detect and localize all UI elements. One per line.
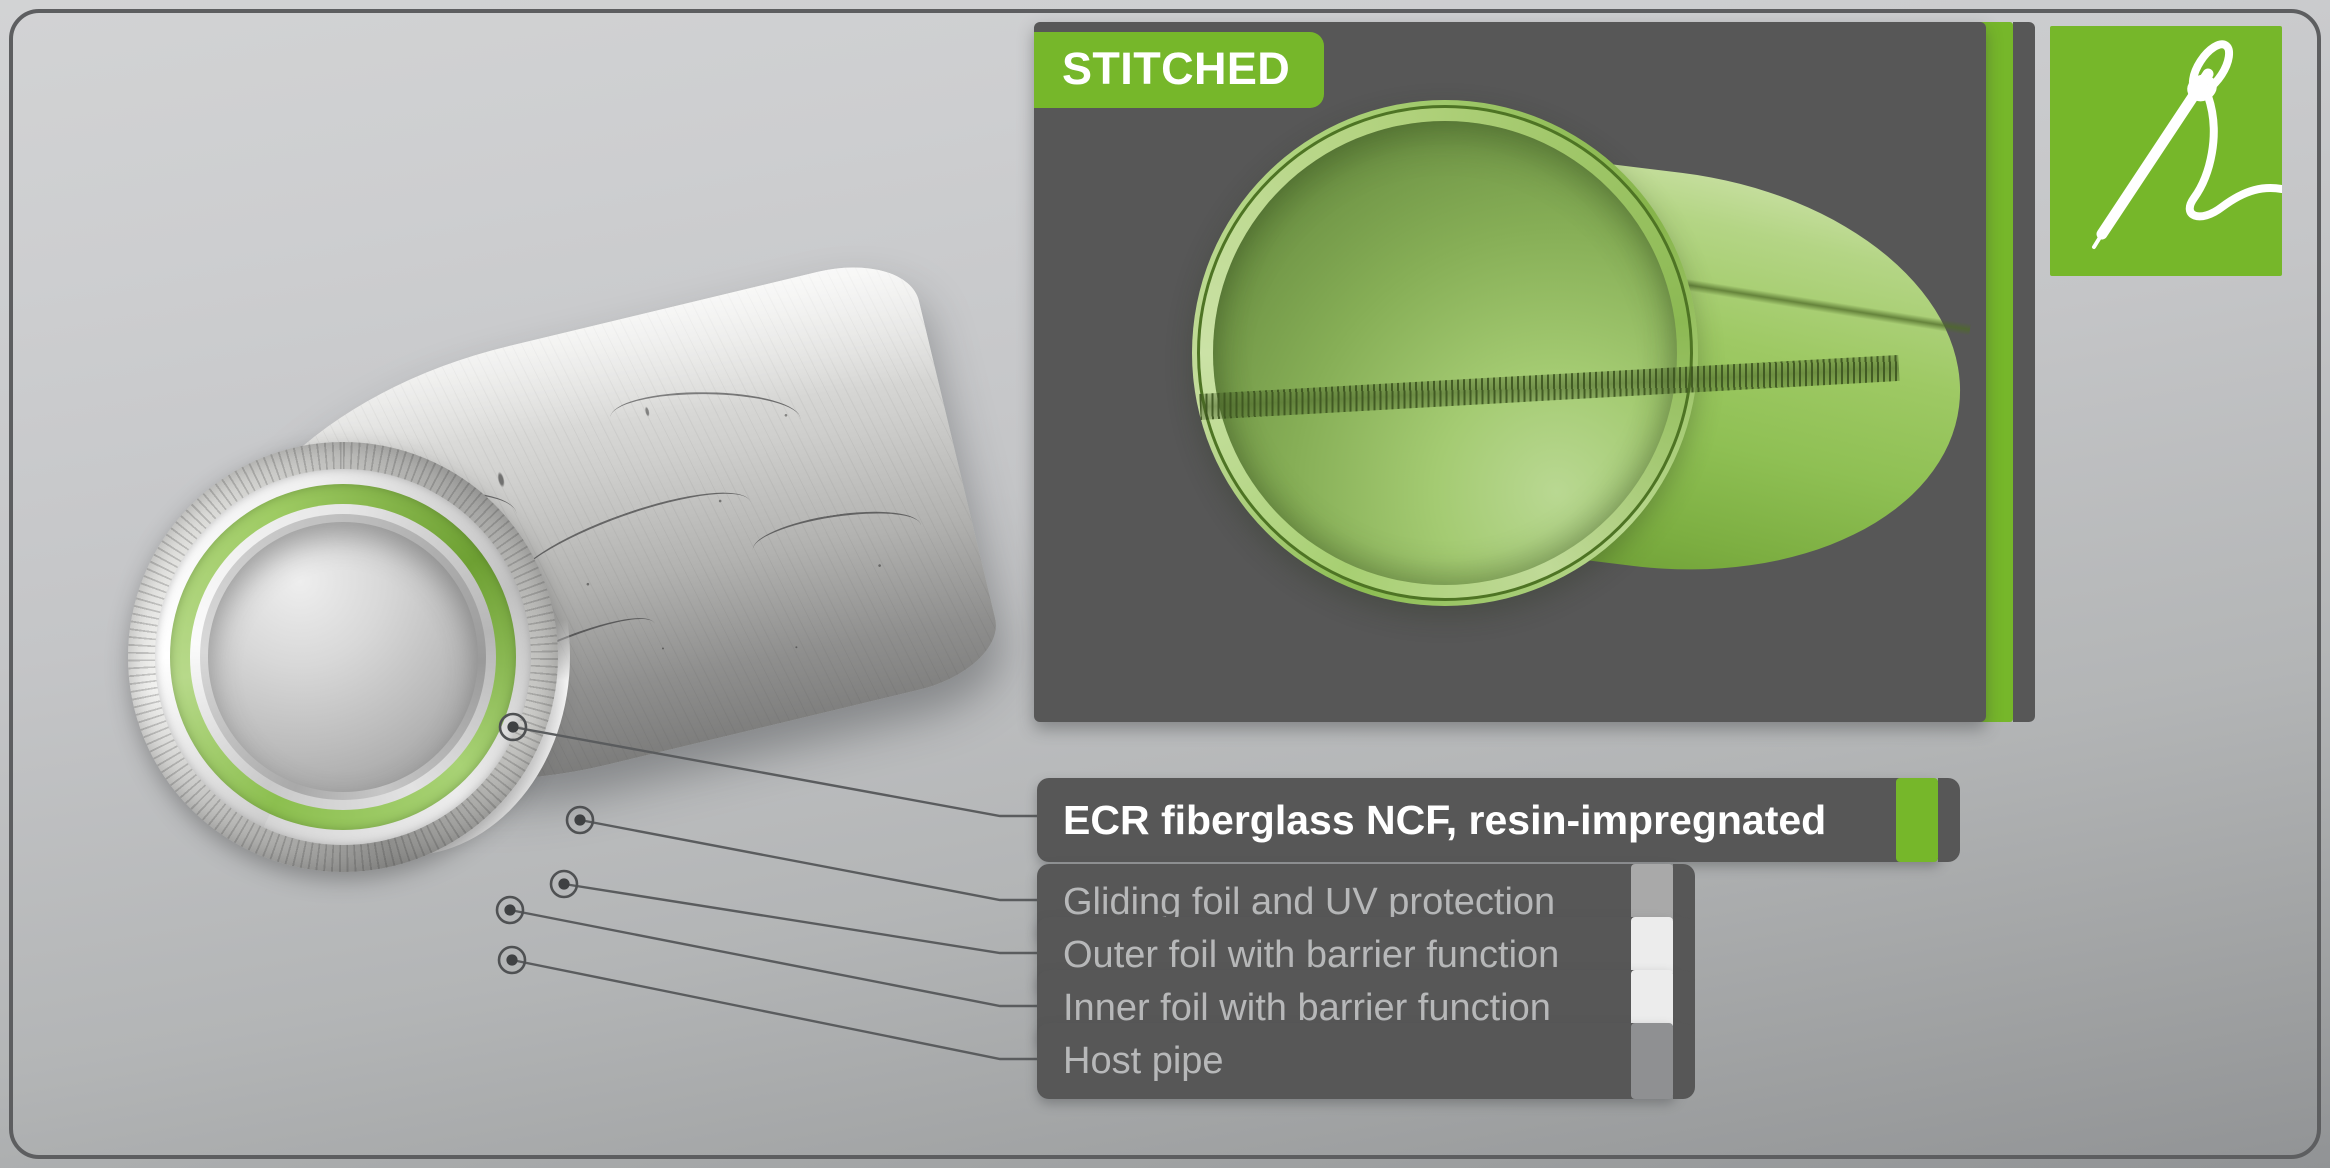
label-bar-tail xyxy=(1938,778,1960,862)
label-text-outer-foil: Outer foil with barrier function xyxy=(1037,936,1559,974)
label-text-ecr-fiberglass: ECR fiberglass NCF, resin-impregnated xyxy=(1037,800,1826,841)
label-text-gliding-foil: Gliding foil and UV protection xyxy=(1037,883,1555,921)
layer-color-swatch-ecr-fiberglass xyxy=(1896,778,1938,862)
label-text-inner-foil: Inner foil with barrier function xyxy=(1037,989,1551,1027)
label-bar-host-pipe: Host pipe xyxy=(1037,1023,1677,1099)
callout-dot-group xyxy=(497,714,593,973)
illustration-canvas: STITCHED ECR fiberglass NCF, resin-impre… xyxy=(0,0,2330,1168)
layer-color-swatch-host-pipe xyxy=(1631,1023,1673,1099)
label-row-host-pipe: Host pipe xyxy=(1037,1023,1677,1099)
label-text-host-pipe: Host pipe xyxy=(1037,1042,1224,1080)
label-row-ecr-fiberglass: ECR fiberglass NCF, resin-impregnated xyxy=(1037,778,1942,862)
label-bar-tail xyxy=(1673,1023,1695,1099)
label-bar-ecr-fiberglass: ECR fiberglass NCF, resin-impregnated xyxy=(1037,778,1942,862)
